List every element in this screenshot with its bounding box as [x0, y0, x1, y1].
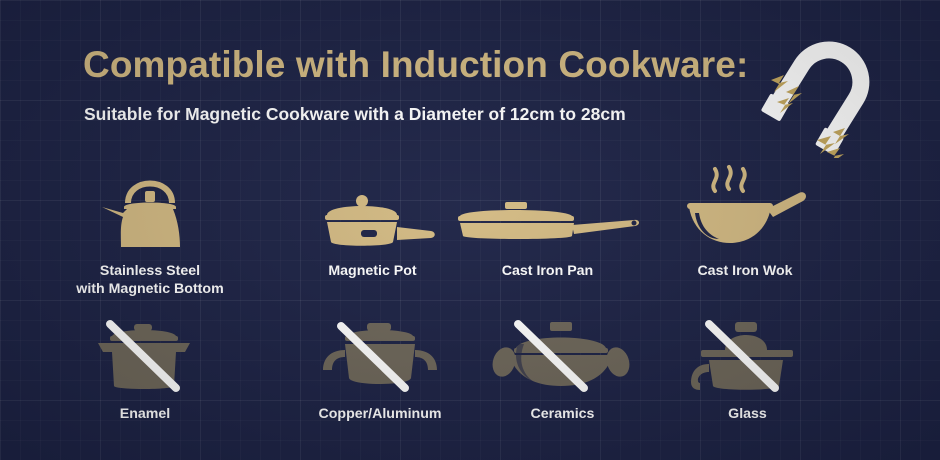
ceramic-casserole-icon: [488, 316, 638, 396]
icon-container: [675, 162, 815, 254]
cookware-item-stainless-steel: Stainless Steel with Magnetic Bottom: [0, 162, 300, 299]
cookware-item-cast-iron-pan: Cast Iron Pan: [445, 162, 650, 299]
cookware-label: Ceramics: [531, 406, 595, 424]
cookware-label: Stainless Steel with Magnetic Bottom: [76, 263, 223, 299]
incompatible-cookware-row: Enamel Copper/Aluminum: [0, 318, 940, 424]
copper-aluminum-pot-icon: [313, 316, 448, 396]
cookware-label: Cast Iron Wok: [697, 263, 792, 281]
compatible-cookware-row: Stainless Steel with Magnetic Bottom Mag…: [0, 162, 940, 299]
page-subtitle: Suitable for Magnetic Cookware with a Di…: [84, 104, 626, 125]
horseshoe-magnet-icon: [755, 28, 890, 158]
cookware-label: Glass: [728, 406, 767, 424]
icon-container: [448, 162, 648, 254]
cookware-item-glass: Glass: [655, 318, 840, 424]
glass-pot-icon: [683, 316, 813, 396]
cookware-item-cast-iron-wok: Cast Iron Wok: [650, 162, 840, 299]
icon-container: [305, 162, 440, 254]
page-title: Compatible with Induction Cookware:: [83, 44, 748, 86]
icon-container: [683, 318, 813, 396]
cookware-item-copper-aluminum: Copper/Aluminum: [290, 318, 470, 424]
cookware-label: Copper/Aluminum: [319, 406, 442, 424]
cookware-item-enamel: Enamel: [0, 318, 290, 424]
icon-container: [90, 162, 210, 254]
cookware-label: Cast Iron Pan: [502, 263, 593, 281]
cookware-label: Enamel: [120, 406, 170, 424]
cookware-label: Magnetic Pot: [328, 263, 416, 281]
saucepan-with-lid-icon: [305, 184, 440, 254]
enamel-stockpot-icon: [90, 316, 200, 396]
cookware-item-magnetic-pot: Magnetic Pot: [300, 162, 445, 299]
icon-container: [313, 318, 448, 396]
frying-pan-with-lid-icon: [448, 184, 648, 254]
induction-cookware-infographic: Compatible with Induction Cookware: Suit…: [0, 0, 940, 460]
wok-with-steam-icon: [675, 159, 815, 254]
kettle-icon: [90, 159, 210, 254]
cookware-item-ceramics: Ceramics: [470, 318, 655, 424]
icon-container: [488, 318, 638, 396]
icon-container: [90, 318, 200, 396]
